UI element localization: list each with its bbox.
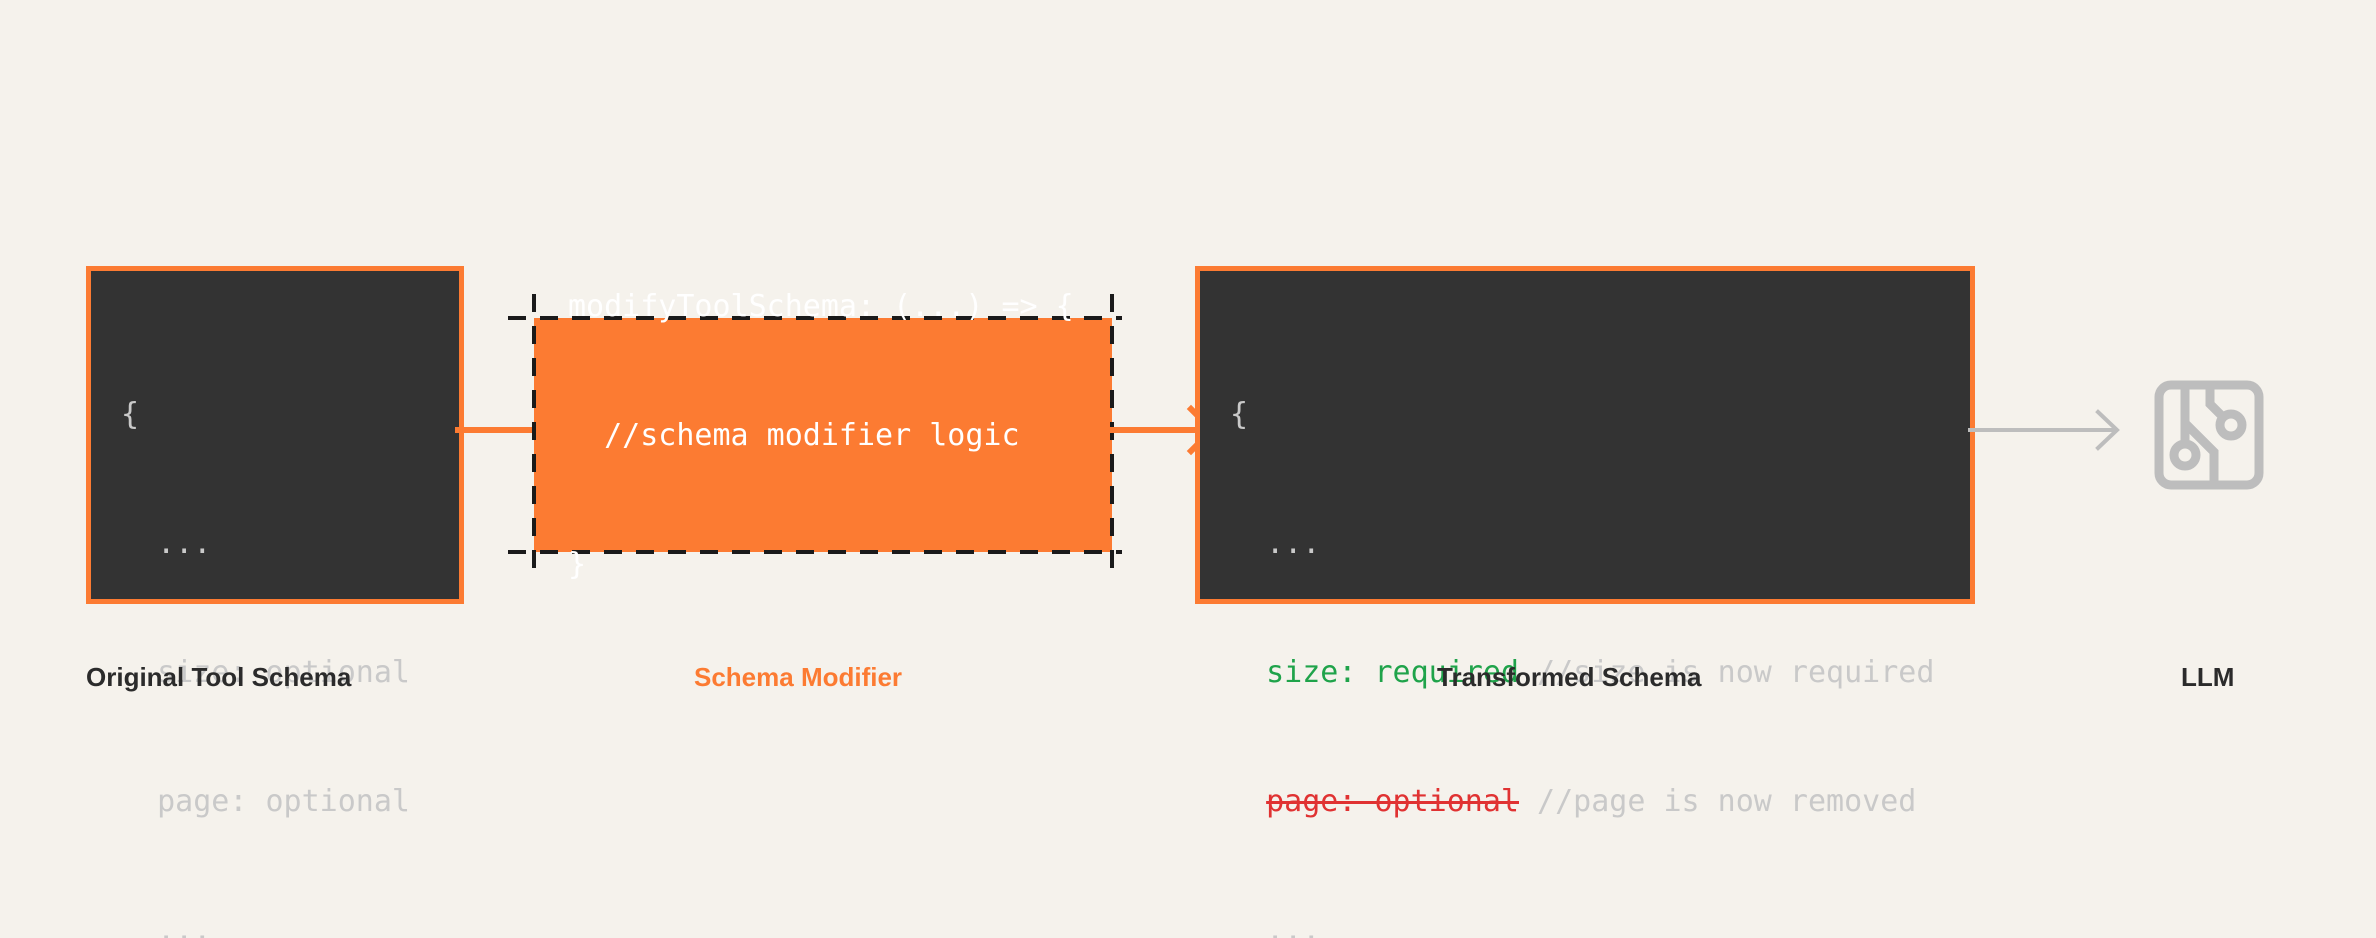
caption-schema-modifier: Schema Modifier (694, 662, 902, 693)
schema-modifier-box: modifyToolSchema: (...) => { //schema mo… (524, 310, 1122, 560)
original-schema-code: { ... size: optional page: optional ... … (91, 271, 440, 938)
transformed-schema-code: { ... size: required //size is now requi… (1200, 271, 1964, 938)
chip-circuit-icon (2152, 378, 2266, 492)
code-line: //schema modifier logic (568, 414, 1074, 457)
code-line: ... (1230, 522, 1934, 565)
schema-modifier-code: modifyToolSchema: (...) => { //schema mo… (568, 199, 1074, 672)
connector-transformed-to-llm (1968, 405, 2128, 455)
code-line: ... (121, 522, 410, 565)
code-line: } (568, 543, 1074, 586)
code-token-removed: page: optional (1266, 784, 1519, 819)
code-line-page: page: optional //page is now removed (1230, 780, 1934, 823)
code-line: { (1230, 393, 1934, 436)
code-line: ... (121, 909, 410, 938)
caption-original-tool-schema: Original Tool Schema (86, 662, 351, 693)
code-line: ... (1230, 909, 1934, 938)
caption-llm: LLM (2181, 662, 2234, 693)
original-schema-box: { ... size: optional page: optional ... … (86, 266, 464, 604)
code-indent (1230, 655, 1266, 690)
code-comment: //page is now removed (1519, 784, 1916, 819)
code-line: page: optional (121, 780, 410, 823)
transformed-schema-box: { ... size: required //size is now requi… (1195, 266, 1975, 604)
code-line: { (121, 393, 410, 436)
code-indent (1230, 784, 1266, 819)
diagram-canvas: { ... size: optional page: optional ... … (0, 0, 2376, 938)
code-line: modifyToolSchema: (...) => { (568, 285, 1074, 328)
caption-transformed-schema: Transformed Schema (1437, 662, 1701, 693)
schema-modifier-text: modifyToolSchema: (...) => { //schema mo… (534, 318, 1112, 552)
